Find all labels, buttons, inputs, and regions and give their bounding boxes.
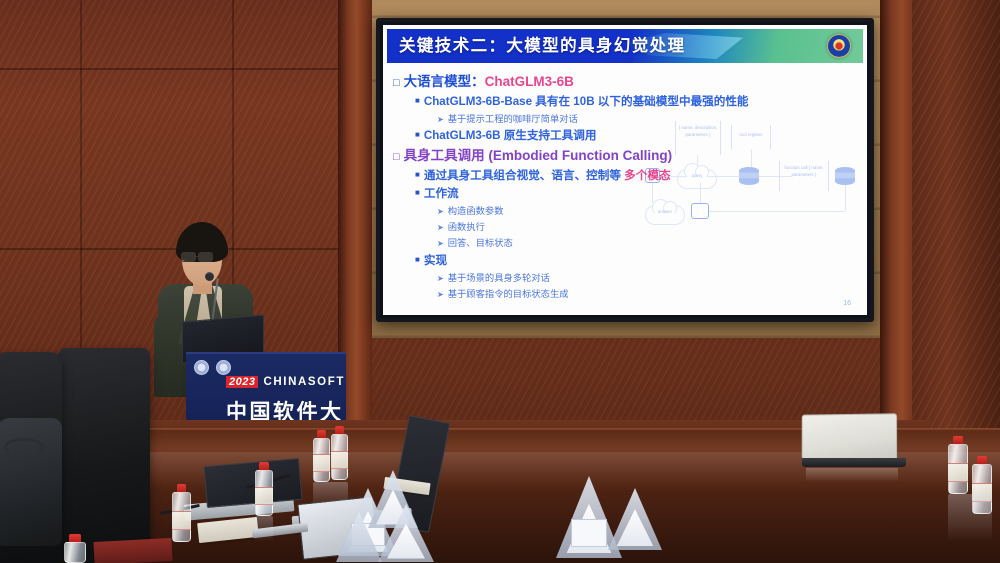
- water-bottle: [255, 462, 273, 516]
- bottle-label: [331, 451, 348, 469]
- bullet-level2: ■ChatGLM3-6B-Base 具有在 10B 以下的基础模型中最强的性能: [393, 93, 861, 109]
- bullet-accent-text: ChatGLM3-6B: [485, 74, 574, 89]
- institution-emblem-icon: [827, 34, 851, 58]
- bullet-text: 实现: [424, 254, 447, 267]
- function-calling-flow-diagram: { name, description, parameters } tool r…: [639, 121, 855, 233]
- bottle-label: [255, 487, 273, 505]
- bullet-text: 工作流: [424, 187, 459, 200]
- bullet-text: 大语言模型：: [404, 74, 485, 89]
- wall-wood-grain: [912, 0, 1000, 470]
- org-logo-left-icon: [194, 360, 209, 375]
- bottle-reflection: [948, 494, 992, 542]
- podium-title-row: 2023 CHINASOFT: [226, 376, 345, 388]
- diagram-label: { name, description, parameters }: [675, 125, 721, 139]
- backpack: [0, 418, 62, 546]
- diagram-label: query: [679, 173, 715, 180]
- bullet-text: 基于场景的具身多轮对话: [448, 273, 550, 283]
- bullet-level1: □大语言模型：ChatGLM3-6B: [393, 70, 861, 90]
- apple-logo-icon: [845, 433, 856, 445]
- nameplate-holder: [336, 512, 382, 562]
- water-bottle: [172, 484, 191, 542]
- bullet-text: 基于提示工程的咖啡厅简单对话: [448, 114, 578, 124]
- diagram-connector: [709, 211, 845, 212]
- podium-english-title: CHINASOFT: [263, 376, 344, 388]
- bullet-level2: ■实现: [393, 252, 861, 268]
- bottle-reflection: [313, 482, 348, 510]
- bullet-text: 构造函数参数: [448, 206, 504, 216]
- bullet-level3: ➤回答、目标状态: [393, 235, 861, 249]
- bullet-marker-arrow: ➤: [437, 274, 444, 283]
- diagram-connector: [845, 185, 846, 211]
- bottle-body: [64, 542, 86, 563]
- laptop-reflection: [806, 468, 898, 482]
- laptop-lid: [802, 413, 897, 460]
- bullet-marker-square-outline: □: [393, 77, 400, 89]
- bullet-text: ChatGLM3-6B 原生支持工具调用: [424, 129, 597, 142]
- bullet-marker-square-filled: ■: [415, 188, 420, 197]
- diagram-label: answer: [647, 209, 683, 216]
- presentation-display[interactable]: 关键技术二：大模型的具身幻觉处理 □大语言模型：ChatGLM3-6B ■Cha…: [376, 18, 874, 322]
- wall-seam: [0, 68, 340, 70]
- bullet-marker-square-outline: □: [393, 151, 400, 163]
- macbook-laptop[interactable]: [800, 414, 904, 472]
- slide-body: □大语言模型：ChatGLM3-6B ■ChatGLM3-6B-Base 具有在…: [393, 69, 861, 311]
- slide: 关键技术二：大模型的具身幻觉处理 □大语言模型：ChatGLM3-6B ■Cha…: [383, 25, 867, 315]
- bottle-label: [948, 463, 968, 483]
- person-icon: [645, 168, 660, 183]
- diagram-connector: [700, 183, 701, 203]
- slide-title-bar: 关键技术二：大模型的具身幻觉处理: [387, 29, 863, 63]
- water-bottle: [313, 430, 330, 482]
- glasses-icon: [181, 252, 196, 262]
- bullet-text: ChatGLM3-6B-Base 具有在 10B 以下的基础模型中最强的性能: [424, 95, 749, 108]
- laptop-base: [802, 458, 906, 467]
- nameplate-card: [571, 519, 608, 547]
- bullet-text: 具身工具调用 (Embodied Function Calling): [404, 148, 672, 163]
- wall-right-section: [912, 0, 1000, 470]
- bullet-marker-square-filled: ■: [415, 130, 420, 139]
- microphone-icon: [205, 272, 214, 281]
- table-nameplate: [336, 512, 382, 562]
- water-bottle: [948, 436, 968, 494]
- bottle-label: [172, 511, 191, 531]
- diagram-label: function call { name, parameters }: [779, 165, 829, 179]
- bullet-marker-arrow: ➤: [437, 115, 444, 124]
- bullet-marker-arrow: ➤: [437, 223, 444, 232]
- bullet-marker-arrow: ➤: [437, 239, 444, 248]
- bullet-marker-square-filled: ■: [415, 96, 420, 105]
- glasses-bridge: [196, 256, 199, 257]
- notebook: [93, 538, 172, 563]
- speaker-arm-left: [154, 314, 182, 397]
- table-nameplate: [608, 488, 662, 550]
- office-chair: [58, 348, 150, 563]
- bottle-label: [313, 454, 330, 472]
- bullet-marker-arrow: ➤: [437, 207, 444, 216]
- bullet-marker-square-filled: ■: [415, 170, 420, 179]
- diagram-connector: [652, 183, 653, 203]
- table-nameplate: [378, 504, 434, 562]
- glasses-icon: [198, 252, 213, 262]
- bullet-text: 通过具身工具组合视觉、语言、控制等: [424, 169, 624, 182]
- conference-room-scene: 关键技术二：大模型的具身幻觉处理 □大语言模型：ChatGLM3-6B ■Cha…: [0, 0, 1000, 563]
- water-bottle: [331, 426, 348, 480]
- water-bottle: [64, 534, 86, 563]
- database-icon: [835, 167, 855, 185]
- org-logo-right-icon: [216, 360, 231, 375]
- bullet-level3: ➤基于场景的具身多轮对话: [393, 270, 861, 284]
- bullet-text: 基于顾客指令的目标状态生成: [448, 289, 569, 299]
- bullet-text: 函数执行: [448, 222, 485, 232]
- backpack-strap: [4, 438, 44, 456]
- bottle-reflection: [255, 516, 273, 542]
- slide-page-number: 16: [843, 300, 851, 307]
- bullet-marker-square-filled: ■: [415, 255, 420, 264]
- podium-logos: [194, 360, 231, 375]
- bullet-marker-arrow: ➤: [437, 290, 444, 299]
- diagram-label: tool register: [731, 132, 771, 139]
- bullet-text: 回答、目标状态: [448, 238, 513, 248]
- robot-icon: [691, 203, 709, 219]
- database-icon: [739, 167, 759, 185]
- bullet-level3: ➤基于顾客指令的目标状态生成: [393, 286, 861, 300]
- slide-title: 关键技术二：大模型的具身幻觉处理: [399, 32, 685, 60]
- podium-year: 2023: [226, 376, 258, 388]
